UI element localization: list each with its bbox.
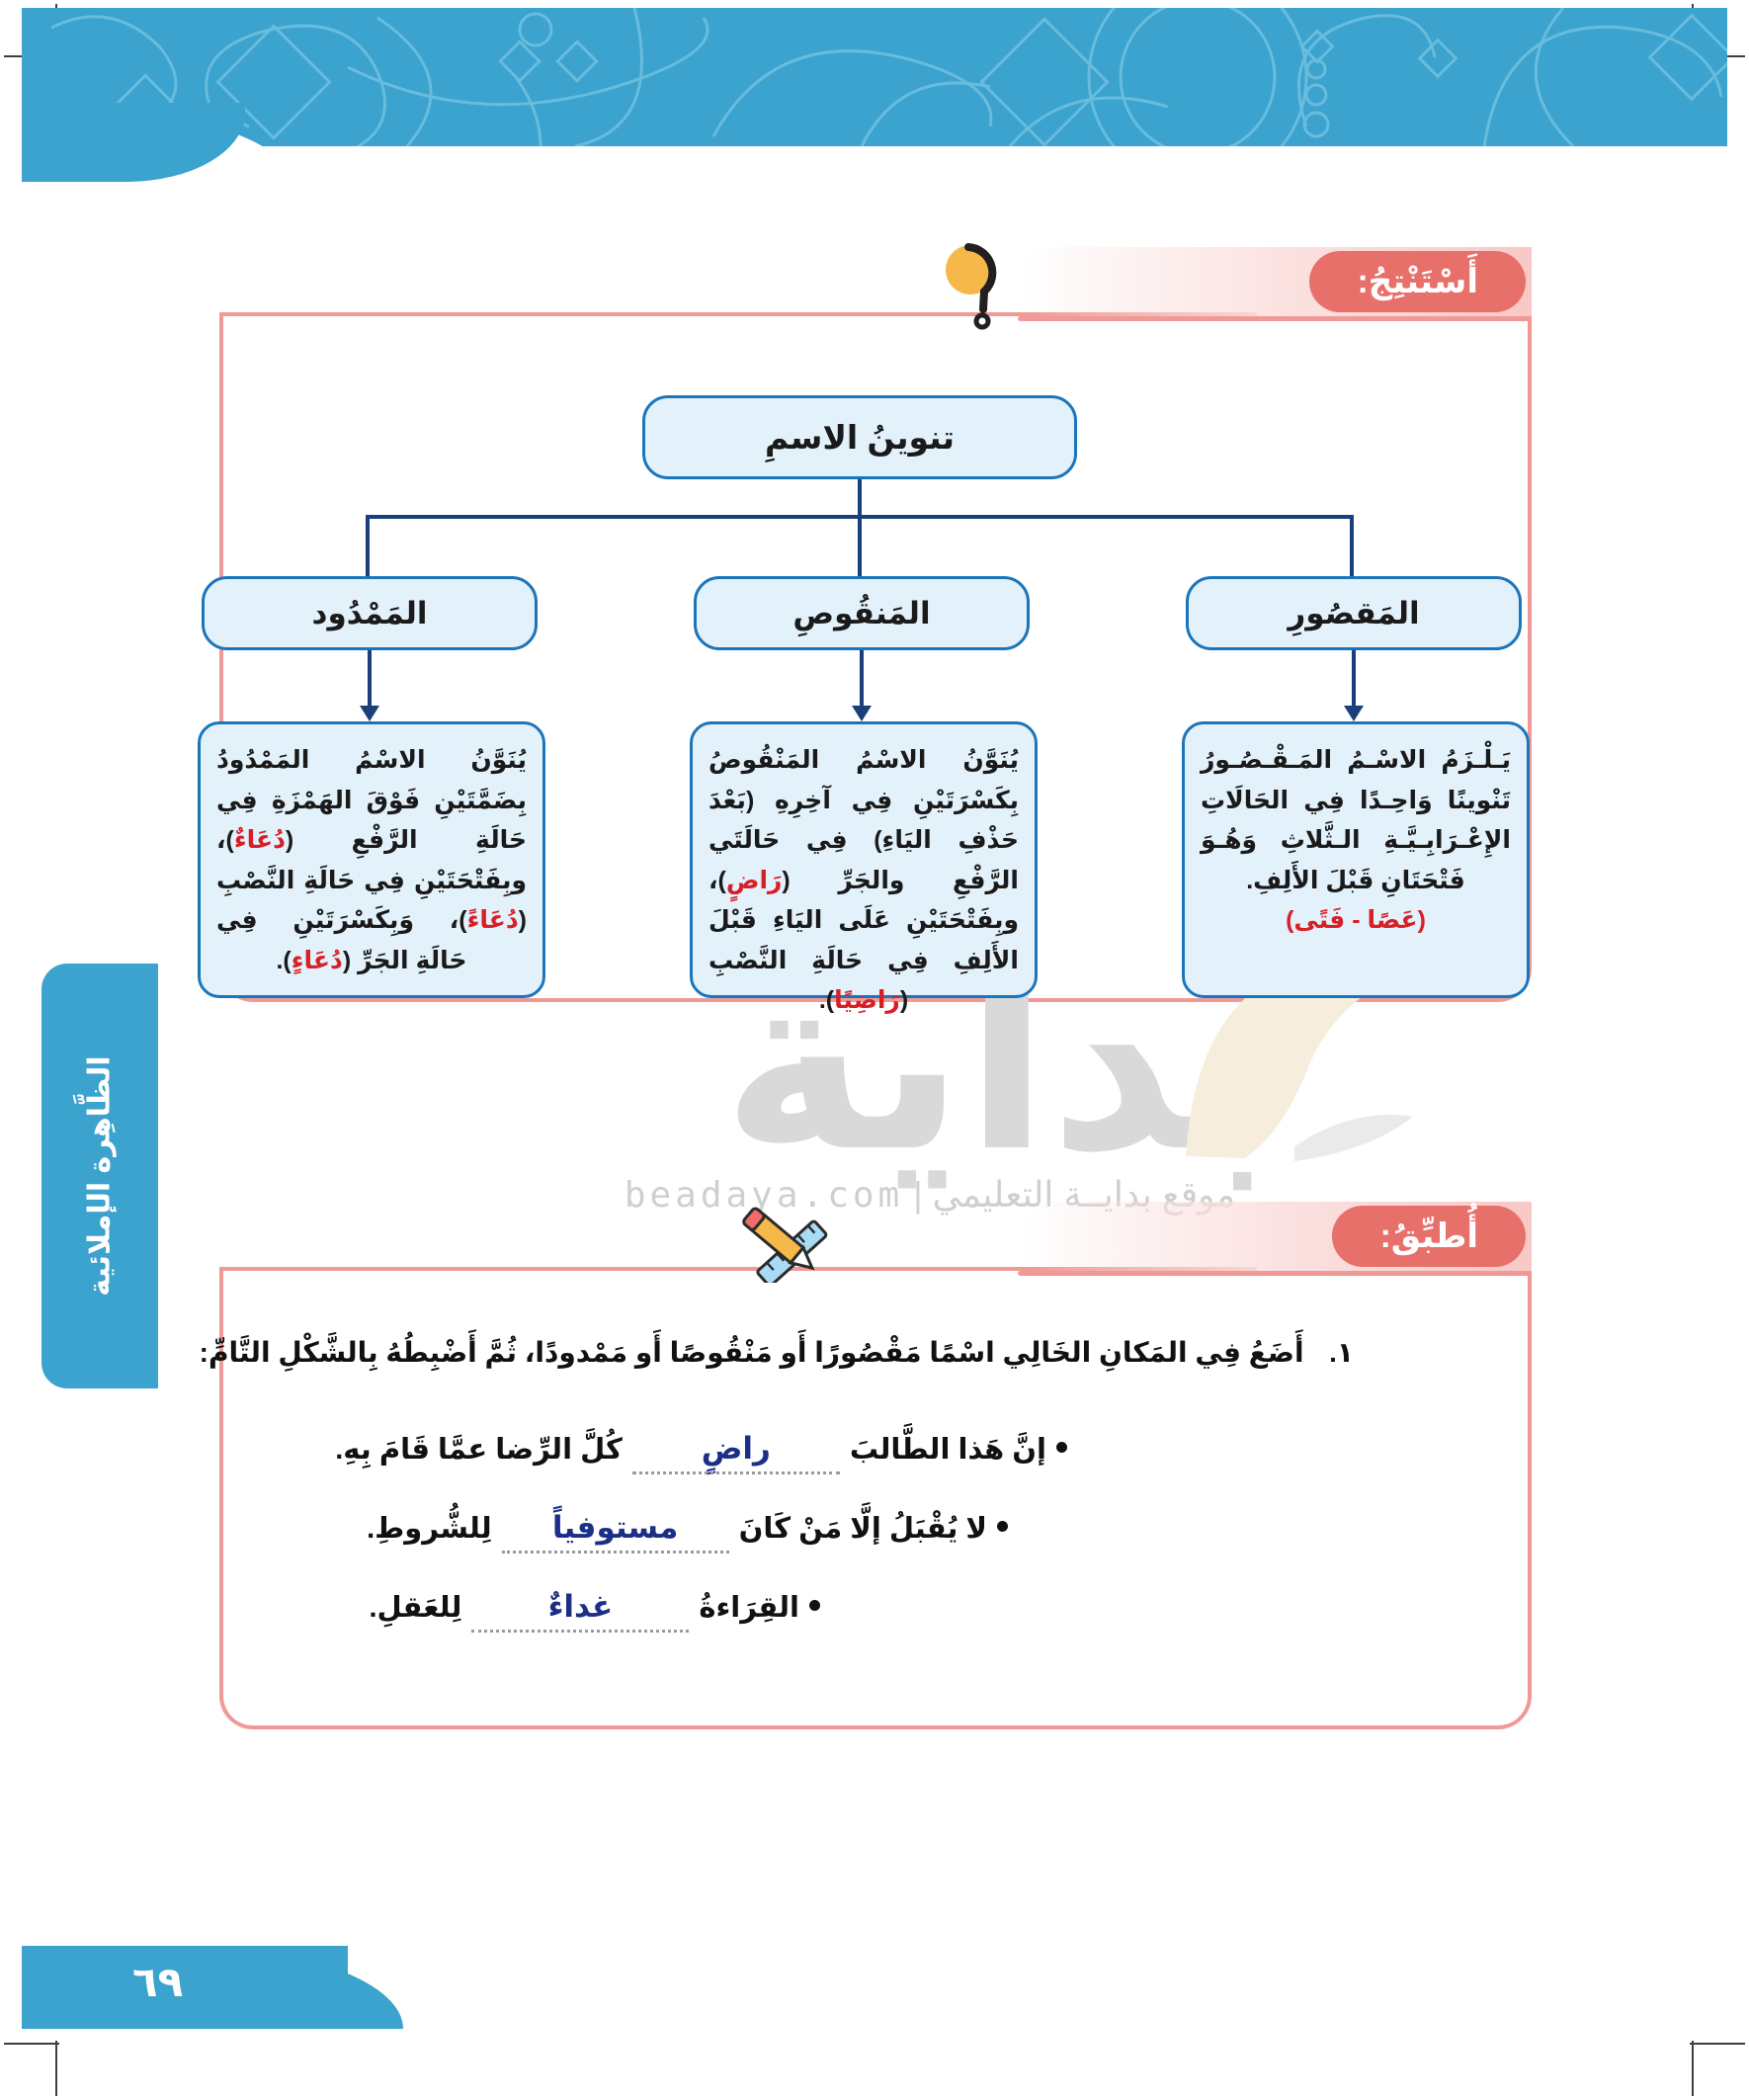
exercise-item-1: إنَّ هَذا الطَّالبَ راضٍ كُلَّ الرِّضا ع… [335,1431,1067,1467]
leaf-mamdud-part-6: ). [276,947,291,974]
exercise-prompt: ١. أَضَعُ فِي المَكانِ الخَالِي اسْمًا م… [200,1336,1354,1369]
tree-leaf-text-mamdud: يُنَوَّنُ الاسْمُ المَمْدُودُ بِضَمَّتَي… [216,740,527,980]
exercise-item-3-after: لِلعَقلِ. [369,1590,461,1625]
tree-branch-label-mamdud: المَمْدُود [312,596,428,631]
tree-leaf-text-maqsur: يَـلْـزَمُ الاسْـمُ المَـقْـصُـورُ تَنْو… [1201,740,1511,941]
exercise-item-2-answer: مستوفياً [552,1510,678,1545]
pencil-ruler-icon [736,1204,830,1283]
leaf-manqus-part-4: ). [819,986,834,1014]
exercise-item-1-answer: راضٍ [702,1431,771,1466]
leaf-mamdud-example-3: دُعَاءٍ [291,947,343,974]
page-number: ٦٩ [132,1958,183,2006]
exercise-item-2-before: لا يُقْبَلُ إلَّا مَنْ كَانَ [739,1511,987,1546]
tree-arrow-head-maqsur [1344,706,1364,721]
tree-branch-node-mamdud: المَمْدُود [202,576,538,650]
chapter-side-tab: الظَّاهِرة الإملائية [42,964,158,1388]
crop-mark-bottom-right-v [1692,2041,1694,2096]
tree-drop-right [1350,515,1354,576]
leaf-mamdud-example-2: دُعَاءً [467,906,519,934]
tree-arrow-head-manqus [852,706,872,721]
tree-leaf-box-manqus: يُنَوَّنُ الاسْمُ المَنْقُوصُ بِكَسْرَتَ… [690,721,1038,998]
crop-mark-bottom-left-h [4,2043,59,2045]
leaf-manqus-example-2: رَاضِيًا [834,986,900,1014]
exercise-item-2-after: لِلشُّروطِ. [367,1511,491,1546]
tree-arrow-stem-maqsur [1352,650,1356,710]
bullet-dot-icon [809,1600,820,1611]
section-header-conclude-pill: أَسْتَنْتِجُ: [1309,251,1526,312]
leaf-maqsur-example: (عَصًا - فَتًى) [1286,906,1426,934]
tree-arrow-stem-manqus [860,650,864,710]
tree-leaf-box-maqsur: يَـلْـزَمُ الاسْـمُ المَـقْـصُـورُ تَنْو… [1182,721,1530,998]
exercise-item-1-dotline [632,1471,840,1474]
exercise-item-1-before: إنَّ هَذا الطَّالبَ [850,1432,1046,1467]
exercise-item-2-dotline [502,1551,729,1554]
tree-branch-label-maqsur: المَقصُورِ [1288,596,1419,631]
crop-mark-bottom-left-v [55,2041,57,2096]
exercise-item-2-blank[interactable]: مستوفياً [502,1510,729,1546]
tree-drop-left [366,515,370,576]
exercise-item-3-blank[interactable]: غداءٌ [471,1589,689,1625]
leaf-manqus-example-1: رَاضٍ [726,867,783,894]
exercise-item-1-blank[interactable]: راضٍ [632,1431,840,1467]
exercise-item-2: لا يُقْبَلُ إلَّا مَنْ كَانَ مستوفياً لِ… [367,1510,1008,1546]
page-footer-bar: ٦٩ [22,1920,1727,2029]
balloon-question-icon [939,242,1018,331]
bullet-dot-icon [1056,1442,1067,1453]
tree-branch-node-manqus: المَنقُوصِ [694,576,1030,650]
exercise-item-3-answer: غداءٌ [548,1589,614,1624]
exercise-item-1-after: كُلَّ الرِّضا عمَّا قَامَ بِهِ. [335,1432,623,1467]
exercise-number: ١. [1329,1337,1354,1368]
tree-branch-label-manqus: المَنقُوصِ [792,596,930,631]
exercise-item-3: القِرَاءةُ غداءٌ لِلعَقلِ. [369,1589,820,1625]
tree-root-stem [858,479,862,519]
tree-leaf-text-manqus: يُنَوَّنُ الاسْمُ المَنْقُوصُ بِكَسْرَتَ… [708,740,1019,1021]
tree-arrow-stem-mamdud [368,650,372,710]
tree-arrow-head-mamdud [360,706,379,721]
tree-drop-middle [858,515,862,576]
section-header-apply-pill: أُطبِّقُ: [1332,1206,1526,1267]
leaf-mamdud-example-1: دُعَاءٌ [234,826,286,854]
tree-branch-node-maqsur: المَقصُورِ [1186,576,1522,650]
header-left-tail [22,103,245,182]
leaf-maqsur-part-0: يَـلْـزَمُ الاسْـمُ المَـقْـصُـورُ تَنْو… [1201,746,1511,894]
exercise-prompt-text: أَضَعُ فِي المَكانِ الخَالِي اسْمًا مَقْ… [200,1337,1304,1368]
tree-root-label: تنوينُ الاسمِ [765,418,955,457]
footer-curve [176,1946,403,2029]
exercise-item-3-dotline [471,1630,689,1633]
chapter-side-tab-label: الظَّاهِرة الإملائية [83,1055,118,1296]
bullet-dot-icon [997,1521,1008,1532]
crop-mark-bottom-right-h [1690,2043,1745,2045]
section-header-conclude: أَسْتَنْتِجُ: [1018,247,1532,316]
section-header-apply: أُطبِّقُ: [1018,1202,1532,1271]
page-header-banner [22,8,1727,146]
exercise-item-3-before: القِرَاءةُ [699,1590,799,1625]
tree-root-node: تنوينُ الاسمِ [642,395,1077,479]
tree-leaf-box-mamdud: يُنَوَّنُ الاسْمُ المَمْدُودُ بِضَمَّتَي… [198,721,545,998]
header-arabesque-pattern [22,8,1727,146]
